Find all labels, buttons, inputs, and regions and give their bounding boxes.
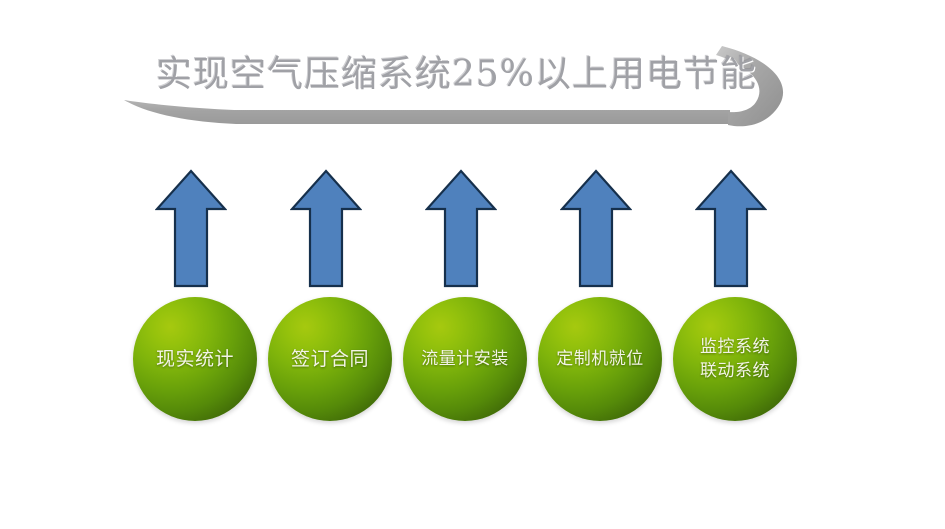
up-arrow-icon [425,168,497,290]
step-label: 定制机就位 [522,346,678,372]
page-title: 实现空气压缩系统25%以上用电节能 [156,44,766,106]
step-node-4[interactable]: 定制机就位 [538,297,662,421]
step-node-3[interactable]: 流量计安装 [403,297,527,421]
slide-canvas: 实现空气压缩系统25%以上用电节能 现实统计 签订合同 流量计安装 定制机就位 … [0,0,945,529]
up-arrow-icon [155,168,227,290]
step-node-5[interactable]: 监控系统 联动系统 [673,297,797,421]
title-banner: 实现空气压缩系统25%以上用电节能 [110,28,810,140]
step-label: 现实统计 [117,346,273,372]
step-label: 监控系统 联动系统 [657,335,813,383]
step-node-1[interactable]: 现实统计 [133,297,257,421]
step-label: 签订合同 [252,346,408,372]
up-arrow-icon [695,168,767,290]
step-node-2[interactable]: 签订合同 [268,297,392,421]
step-label: 流量计安装 [387,346,543,372]
up-arrow-icon [560,168,632,290]
up-arrow-icon [290,168,362,290]
